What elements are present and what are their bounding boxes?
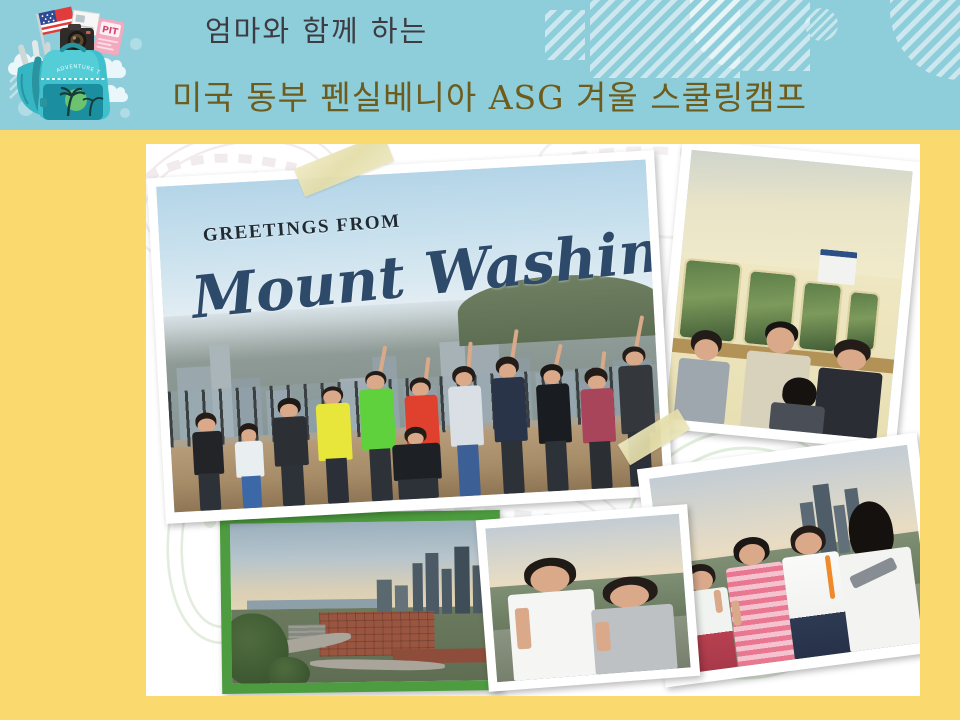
student-figure — [670, 328, 736, 425]
student-figure-front — [767, 375, 830, 434]
photo-collage-panel: PITT — [146, 144, 920, 696]
presentation-slide: PIT — [0, 0, 960, 720]
tree-cluster — [268, 657, 310, 684]
photo-image-area — [230, 520, 492, 684]
travel-backpack-logo: PIT — [4, 2, 144, 130]
photo-image-area — [665, 150, 912, 440]
mount-washington-postcard-photo[interactable]: GREETINGS FROM Mount Washington — [147, 150, 674, 524]
student-figure — [485, 355, 537, 494]
photo-image-area — [485, 514, 690, 682]
student-figure — [441, 364, 492, 497]
student-figure — [503, 554, 601, 681]
pittsburgh-cityscape-photo[interactable] — [220, 510, 502, 694]
student-figure — [184, 411, 233, 511]
title-line-2: 미국 동부 펜실베니아 ASG 겨울 스쿨링캠프 — [172, 71, 807, 119]
duquesne-incline-interior-photo[interactable] — [654, 144, 920, 451]
photo-image-area: GREETINGS FROM Mount Washington — [156, 160, 663, 513]
student-figure — [529, 363, 580, 492]
header-title-group: 엄마와 함께 하는 미국 동부 펜실베니아 ASG 겨울 스쿨링캠프 — [150, 0, 940, 130]
student-figure-crouching — [386, 425, 449, 500]
student-figure — [587, 573, 679, 675]
student-figure — [266, 397, 316, 507]
student-figure — [310, 385, 361, 505]
slide-header-band: PIT — [0, 0, 960, 130]
two-students-v-sign-photo[interactable] — [476, 504, 701, 692]
cabin-notice-sign — [817, 249, 858, 285]
title-line-1: 엄마와 함께 하는 — [205, 8, 428, 50]
student-figure — [228, 422, 272, 509]
